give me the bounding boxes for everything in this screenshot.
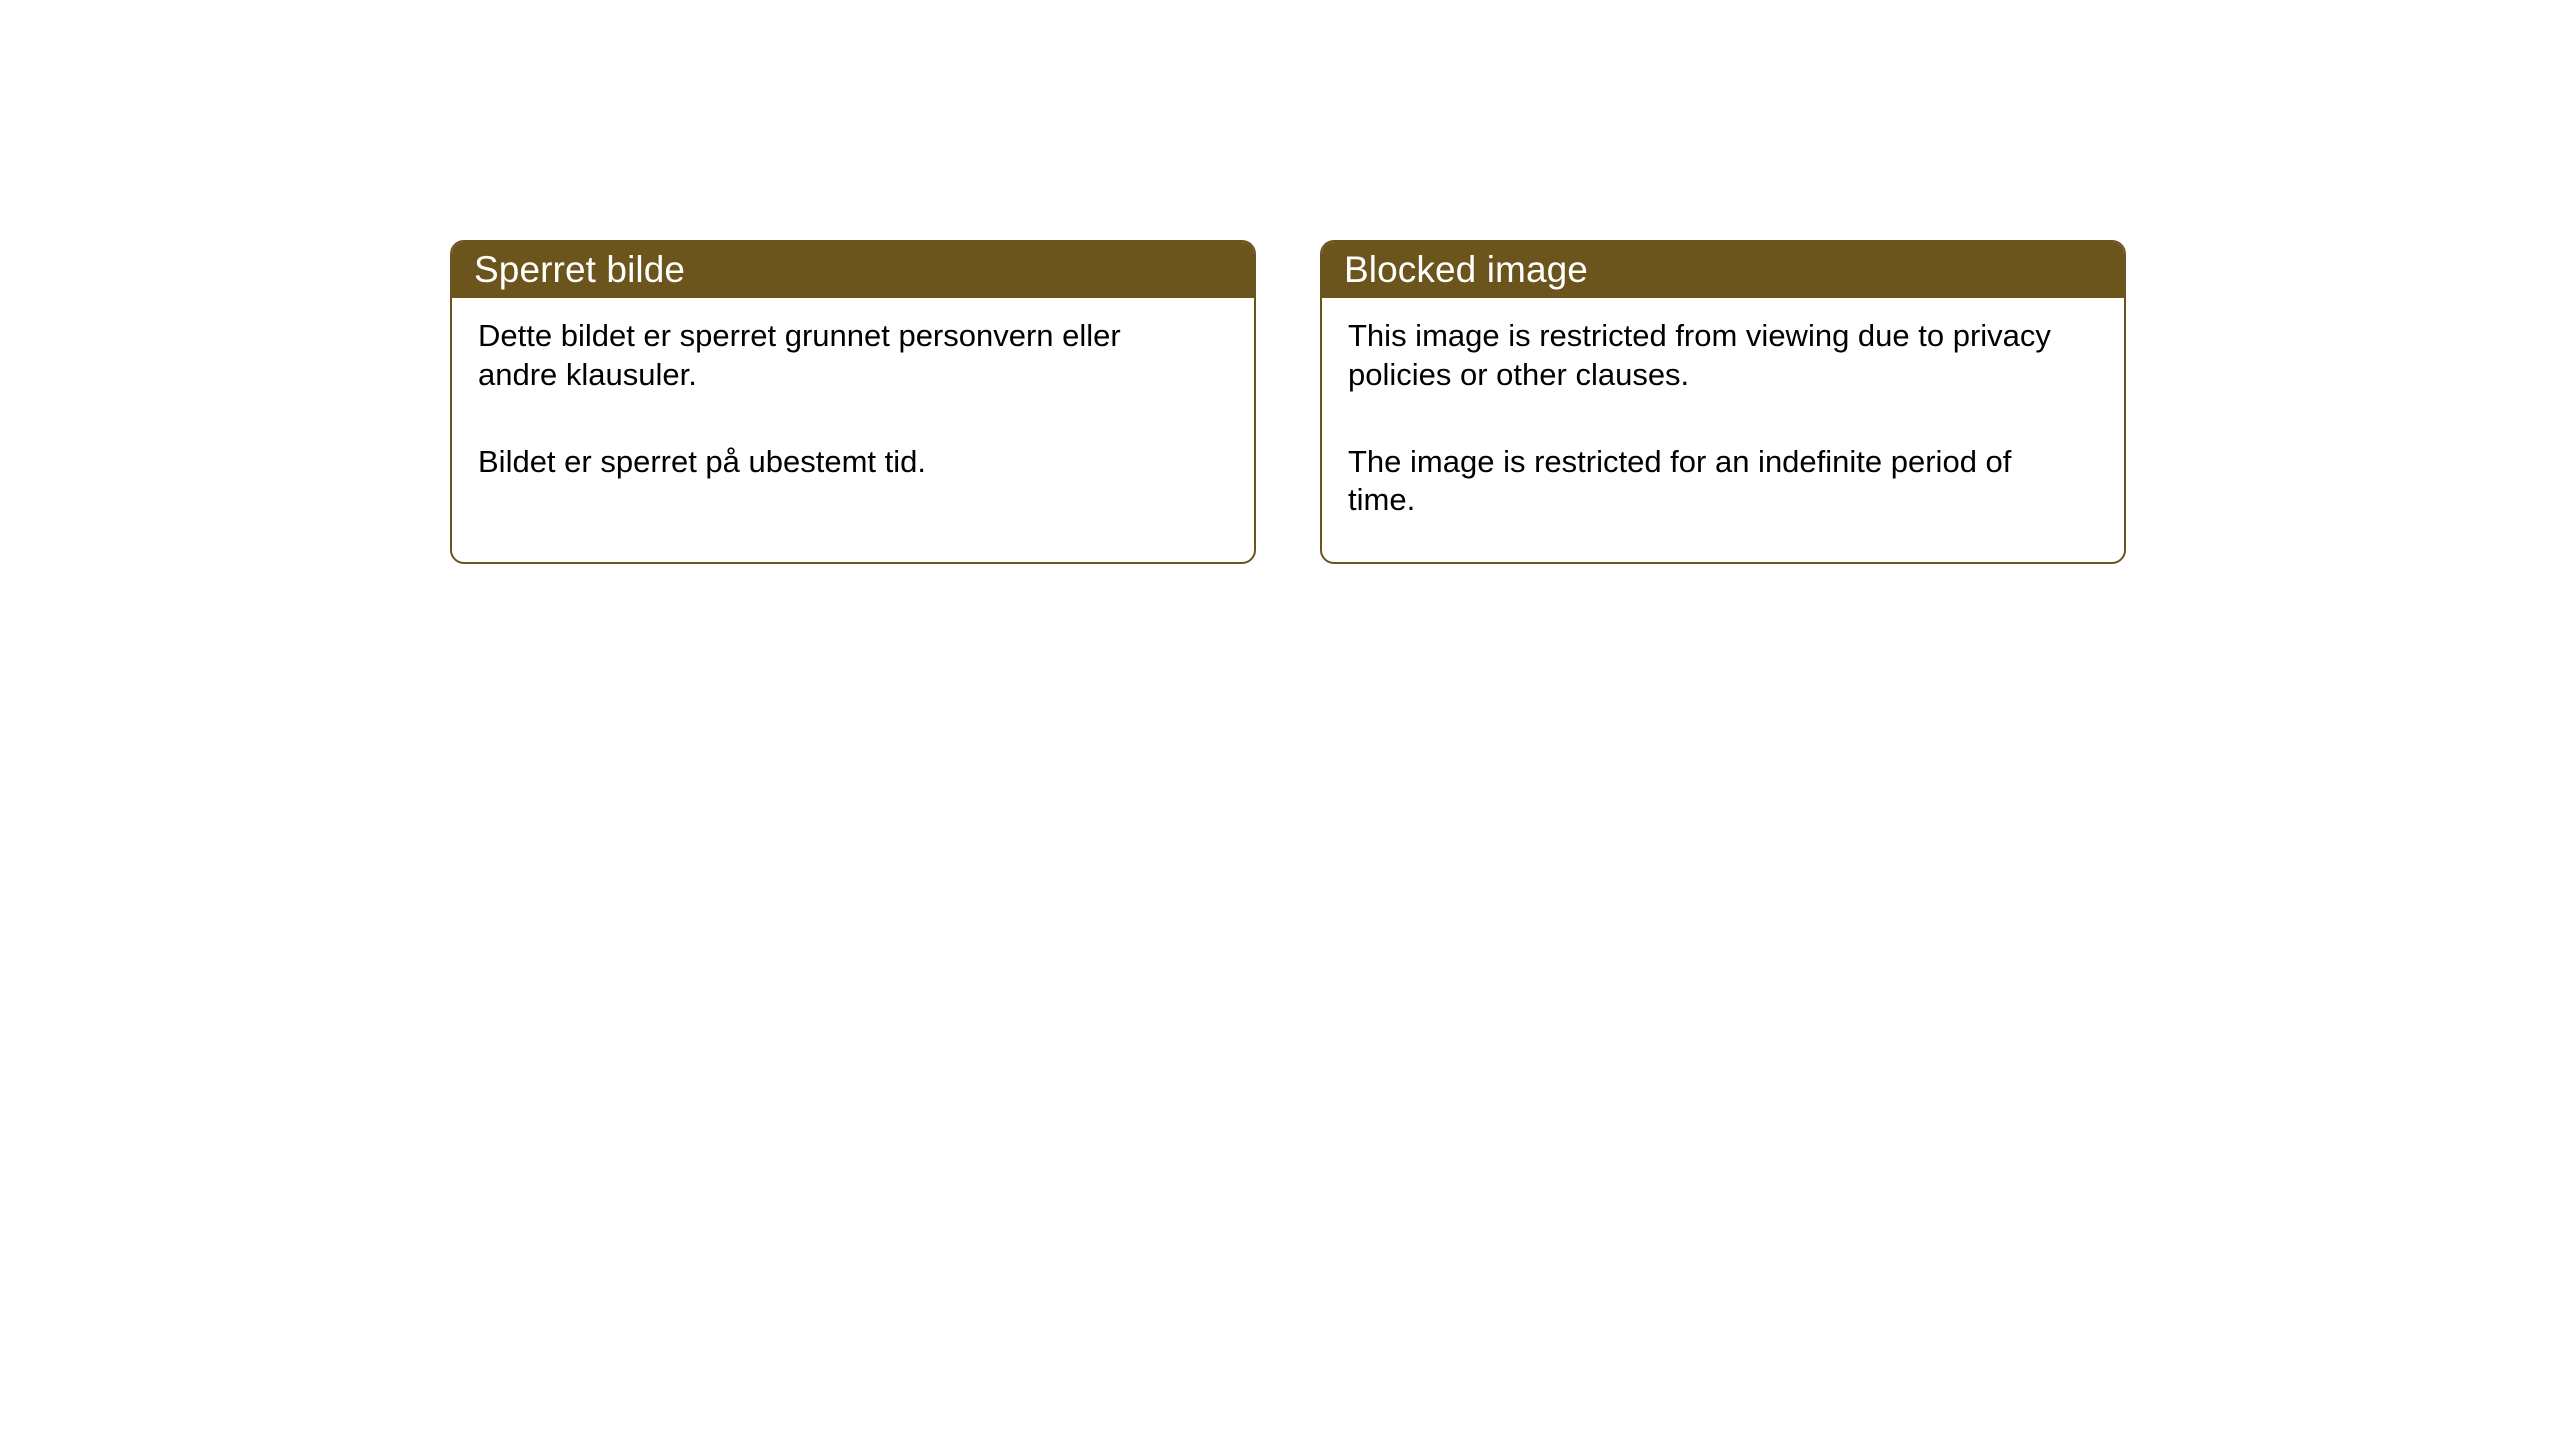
card-body-english: This image is restricted from viewing du… — [1322, 298, 2124, 520]
card-paragraph-primary-norwegian: Dette bildet er sperret grunnet personve… — [478, 317, 1198, 395]
card-body-norwegian: Dette bildet er sperret grunnet personve… — [452, 298, 1254, 481]
card-title-english: Blocked image — [1344, 251, 1588, 288]
card-paragraph-primary-english: This image is restricted from viewing du… — [1348, 317, 2068, 395]
card-paragraph-secondary-english: The image is restricted for an indefinit… — [1348, 443, 2068, 521]
card-header-english: Blocked image — [1320, 240, 2126, 298]
card-header-norwegian: Sperret bilde — [450, 240, 1256, 298]
blocked-image-card-norwegian: Sperret bilde Dette bildet er sperret gr… — [450, 240, 1256, 564]
blocked-image-card-english: Blocked image This image is restricted f… — [1320, 240, 2126, 564]
card-paragraph-secondary-norwegian: Bildet er sperret på ubestemt tid. — [478, 443, 1198, 482]
card-title-norwegian: Sperret bilde — [474, 251, 685, 288]
page-canvas: Sperret bilde Dette bildet er sperret gr… — [0, 0, 2560, 1440]
